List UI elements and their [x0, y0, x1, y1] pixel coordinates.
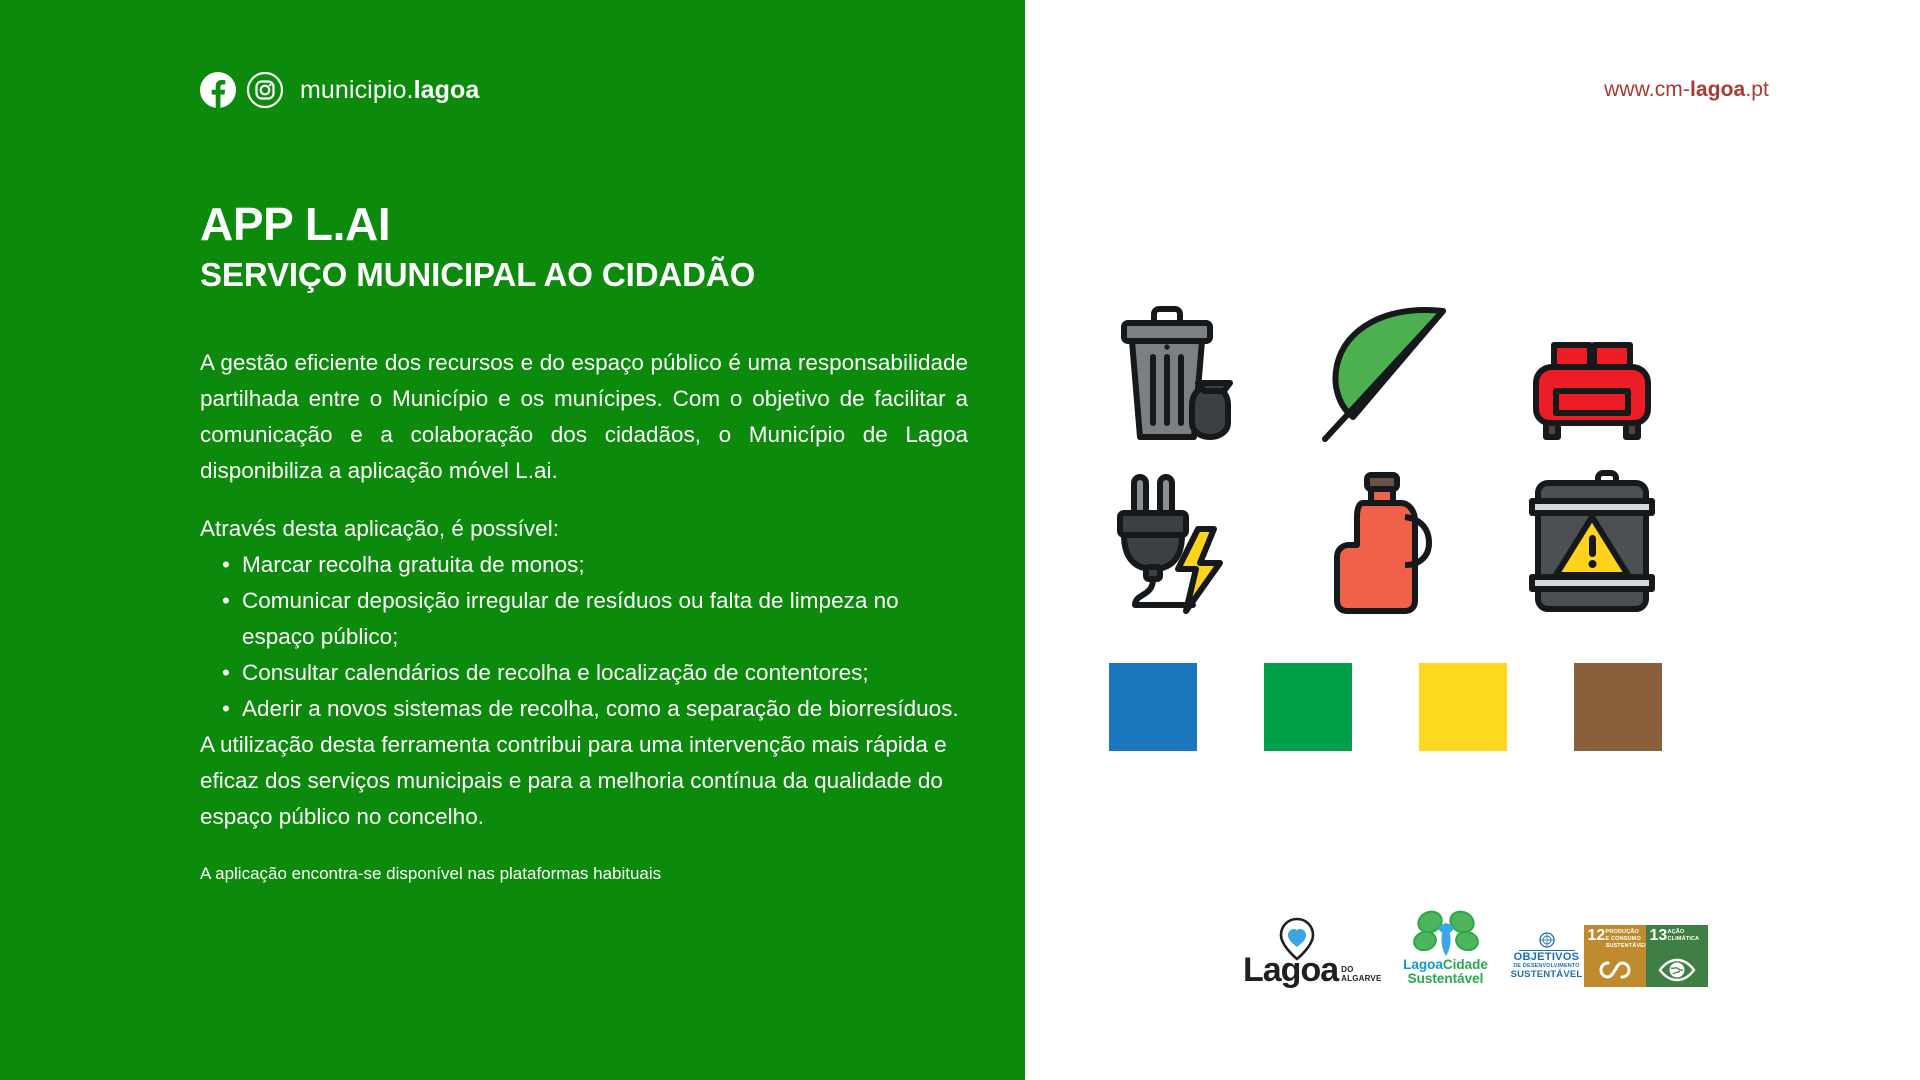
sdg-12-number: 12	[1588, 928, 1606, 944]
body-block: A gestão eficiente dos recursos e do esp…	[200, 345, 968, 887]
eye-globe-icon	[1646, 957, 1708, 983]
swatch-blue	[1109, 663, 1197, 751]
paragraph-outro: A utilização desta ferramenta contribui …	[200, 727, 968, 835]
leaf-icon	[1305, 295, 1465, 455]
logo-sustentavel-cidade: Cidade	[1443, 957, 1488, 972]
sdg-13-text: AÇÃO CLIMÁTICA	[1668, 929, 1706, 943]
trash-can-icon	[1098, 295, 1258, 455]
list-item: Aderir a novos sistemas de recolha, como…	[222, 691, 968, 727]
paragraph-lead-in: Através desta aplicação, é possível:	[200, 511, 968, 547]
url-prefix: www.cm-	[1604, 78, 1690, 101]
sofa-icon	[1512, 295, 1672, 455]
logo-sustentavel-line1: LagoaCidade	[1403, 958, 1488, 972]
list-item: Marcar recolha gratuita de monos;	[222, 547, 968, 583]
odm-sustentavel: SUSTENTÁVEL	[1511, 970, 1583, 980]
handle-bold: lagoa	[414, 76, 480, 104]
page-title: APP L.AI	[200, 200, 990, 249]
oil-jerrycan-icon	[1305, 465, 1465, 625]
social-handle-text: municipio.lagoa	[300, 76, 479, 105]
hazardous-waste-drum-icon	[1512, 465, 1672, 625]
poster-page: municipio.lagoa APP L.AI SERVIÇO MUNICIP…	[0, 0, 1920, 1080]
logo-row: Lagoa DO ALGARVE	[1243, 908, 1708, 987]
swatch-green	[1264, 663, 1352, 751]
left-green-panel: municipio.lagoa APP L.AI SERVIÇO MUNICIP…	[0, 0, 1025, 1080]
social-handle-row: municipio.lagoa	[200, 72, 479, 108]
location-pin-heart-icon	[1277, 917, 1317, 961]
logo-sustentavel-line2: Sustentável	[1408, 972, 1484, 987]
waste-icon-grid	[1075, 290, 1695, 630]
swatch-brown	[1574, 663, 1662, 751]
logo-lagoa-do-algarve: Lagoa DO ALGARVE	[1243, 953, 1382, 987]
clover-leaf-icon	[1410, 908, 1482, 958]
list-item: Consultar calendários de recolha e local…	[222, 655, 968, 691]
logo-sustentavel-lagoa: Lagoa	[1403, 957, 1443, 972]
infinity-loop-icon	[1584, 957, 1646, 983]
feature-list: Marcar recolha gratuita de monos; Comuni…	[222, 547, 968, 727]
availability-note: A aplicação encontra-se disponível nas p…	[200, 861, 968, 887]
sdg-12-badge: 12 PRODUÇÃO E CONSUMO SUSTENTÁVEIS	[1584, 925, 1646, 987]
headline-block: APP L.AI SERVIÇO MUNICIPAL AO CIDADÃO	[200, 200, 990, 294]
sdg-odm-badge: OBJETIVOS DE DESENVOLVIMENTO SUSTENTÁVEL	[1510, 925, 1584, 987]
page-subtitle: SERVIÇO MUNICIPAL AO CIDADÃO	[200, 257, 990, 294]
facebook-icon[interactable]	[200, 72, 236, 108]
sdg-badge-row: OBJETIVOS DE DESENVOLVIMENTO SUSTENTÁVEL…	[1510, 925, 1708, 987]
sdg-12-text: PRODUÇÃO E CONSUMO SUSTENTÁVEIS	[1606, 929, 1644, 950]
logo-lagoa-sub-line2: ALGARVE	[1341, 975, 1381, 984]
sdg-13-badge: 13 AÇÃO CLIMÁTICA	[1646, 925, 1708, 987]
logo-lagoa-word: Lagoa	[1243, 953, 1338, 987]
paragraph-intro: A gestão eficiente dos recursos e do esp…	[200, 345, 968, 489]
sdg-13-number: 13	[1650, 928, 1668, 944]
handle-prefix: municipio.	[300, 76, 414, 104]
list-item: Comunicar deposição irregular de resíduo…	[222, 583, 968, 655]
url-bold: lagoa	[1690, 78, 1745, 101]
plug-lightning-icon	[1098, 465, 1258, 625]
url-suffix: .pt	[1745, 78, 1769, 101]
recycling-color-swatches	[1075, 663, 1695, 751]
instagram-icon[interactable]	[247, 72, 283, 108]
logo-lagoa-cidade-sustentavel: LagoaCidade Sustentável	[1398, 908, 1494, 987]
swatch-yellow	[1419, 663, 1507, 751]
website-url[interactable]: www.cm-lagoa.pt	[1604, 78, 1769, 102]
odm-title: OBJETIVOS	[1514, 952, 1580, 963]
right-white-panel: www.cm-lagoa.pt	[1025, 0, 1920, 1080]
un-emblem-icon	[1539, 932, 1555, 948]
logo-lagoa-subtitle: DO ALGARVE	[1341, 966, 1381, 987]
